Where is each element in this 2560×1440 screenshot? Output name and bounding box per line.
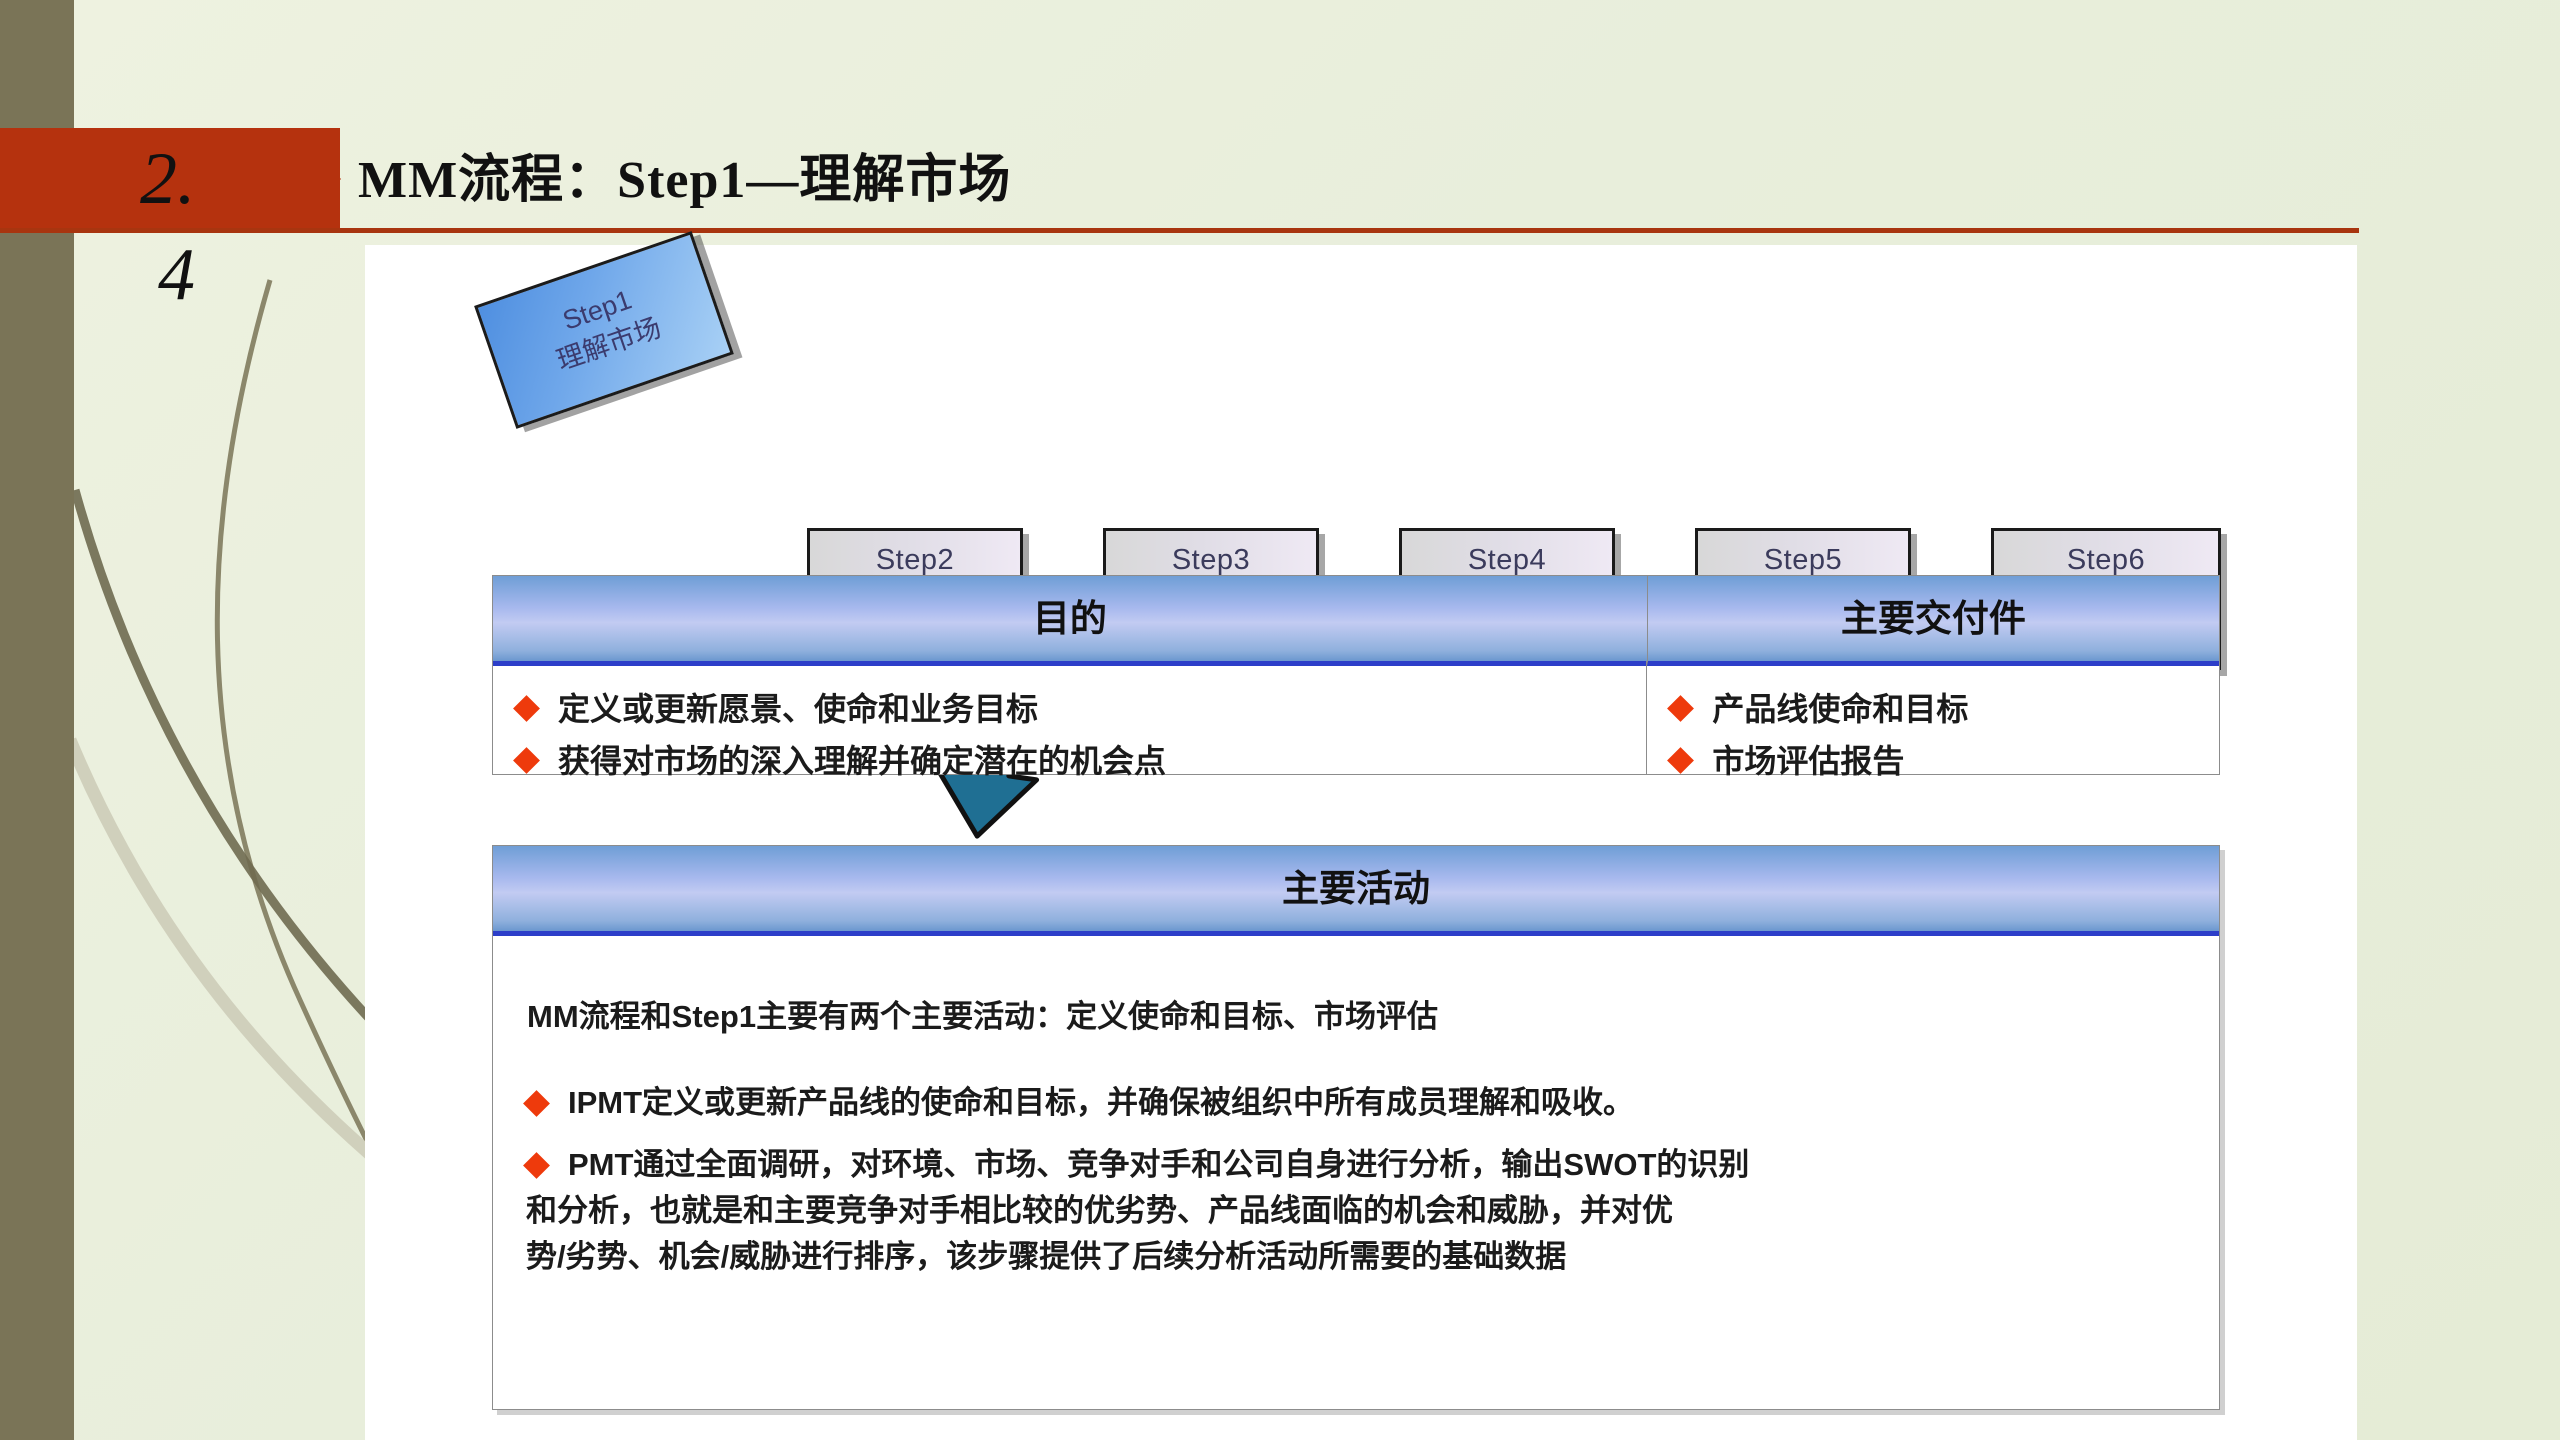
diamond-bullet-icon [1667,747,1694,774]
title-underline-rule [0,228,2359,233]
activities-intro-text: MM流程和Step1主要有两个主要活动：定义使命和目标、市场评估 [527,994,2179,1040]
table-cell-purpose: 定义或更新愿景、使命和业务目标 获得对市场的深入理解并确定潜在的机会点 [493,661,1647,775]
list-item: 获得对市场的深入理解并确定潜在的机会点 [517,735,1646,787]
flow-step-step4-en: Step4 [1402,542,1612,578]
flow-step-step3-en: Step3 [1106,542,1316,578]
content-panel: Step1 理解市场 Step2 进行市场 细分 Step3 进行组合 分析 [365,245,2357,1440]
list-item: PMT通过全面调研，对环境、市场、竞争对手和公司自身进行分析，输出SWOT的识别… [527,1142,2179,1280]
flow-step-step2-en: Step2 [810,542,1020,578]
diamond-bullet-icon [513,747,540,774]
list-item-label-cont-1: 和分析，也就是和主要竞争对手相比较的优劣势、产品线面临的机会和威胁，并对优 [526,1188,1749,1234]
flow-step-step6-en: Step6 [1994,542,2218,578]
slide-root: 2. 4 MM流程：Step1—理解市场 Step1 理解市场 Step2 进行… [0,0,2560,1440]
flow-step-step1[interactable]: Step1 理解市场 [474,231,734,429]
banner-arrow-icon [289,128,341,230]
slide-number-major: 2. [140,130,280,228]
slide-number-minor: 4 [158,226,298,324]
list-item: 定义或更新愿景、使命和业务目标 [517,683,1646,735]
purpose-deliverables-table: 目的 主要交付件 定义或更新愿景、使命和业务目标 获得对市场的深入理解并确定潜在… [492,575,2220,775]
list-item: 市场评估报告 [1671,735,2219,787]
diamond-bullet-icon [523,1152,550,1179]
page-title: MM流程：Step1—理解市场 [358,138,1011,224]
table-header-deliverables: 主要交付件 [1648,576,2219,666]
list-item-label: 产品线使命和目标 [1712,691,1968,727]
flow-step-step5-en: Step5 [1698,542,1908,578]
table-header-activities: 主要活动 [493,846,2219,936]
main-activities-table: 主要活动 MM流程和Step1主要有两个主要活动：定义使命和目标、市场评估 IP… [492,845,2220,1410]
diamond-bullet-icon [523,1090,550,1117]
table-cell-deliverables: 产品线使命和目标 市场评估报告 [1647,661,2219,775]
list-item: 产品线使命和目标 [1671,683,2219,735]
diamond-bullet-icon [1667,695,1694,722]
list-item-label: 市场评估报告 [1712,743,1904,779]
diamond-bullet-icon [513,695,540,722]
table-header-purpose: 目的 [493,576,1648,666]
list-item: IPMT定义或更新产品线的使命和目标，并确保被组织中所有成员理解和吸收。 [527,1080,2179,1126]
list-item-label: IPMT定义或更新产品线的使命和目标，并确保被组织中所有成员理解和吸收。 [568,1080,1634,1126]
list-item-label: 定义或更新愿景、使命和业务目标 [558,691,1038,727]
process-flow-diagram: Step1 理解市场 Step2 进行市场 细分 Step3 进行组合 分析 [365,245,2357,575]
list-item-label: PMT通过全面调研，对环境、市场、竞争对手和公司自身进行分析，输出SWOT的识别 [568,1142,1749,1188]
list-item-label-cont-2: 势/劣势、机会/威胁进行排序，该步骤提供了后续分析活动所需要的基础数据 [526,1234,1749,1280]
list-item-label: 获得对市场的深入理解并确定潜在的机会点 [558,743,1166,779]
